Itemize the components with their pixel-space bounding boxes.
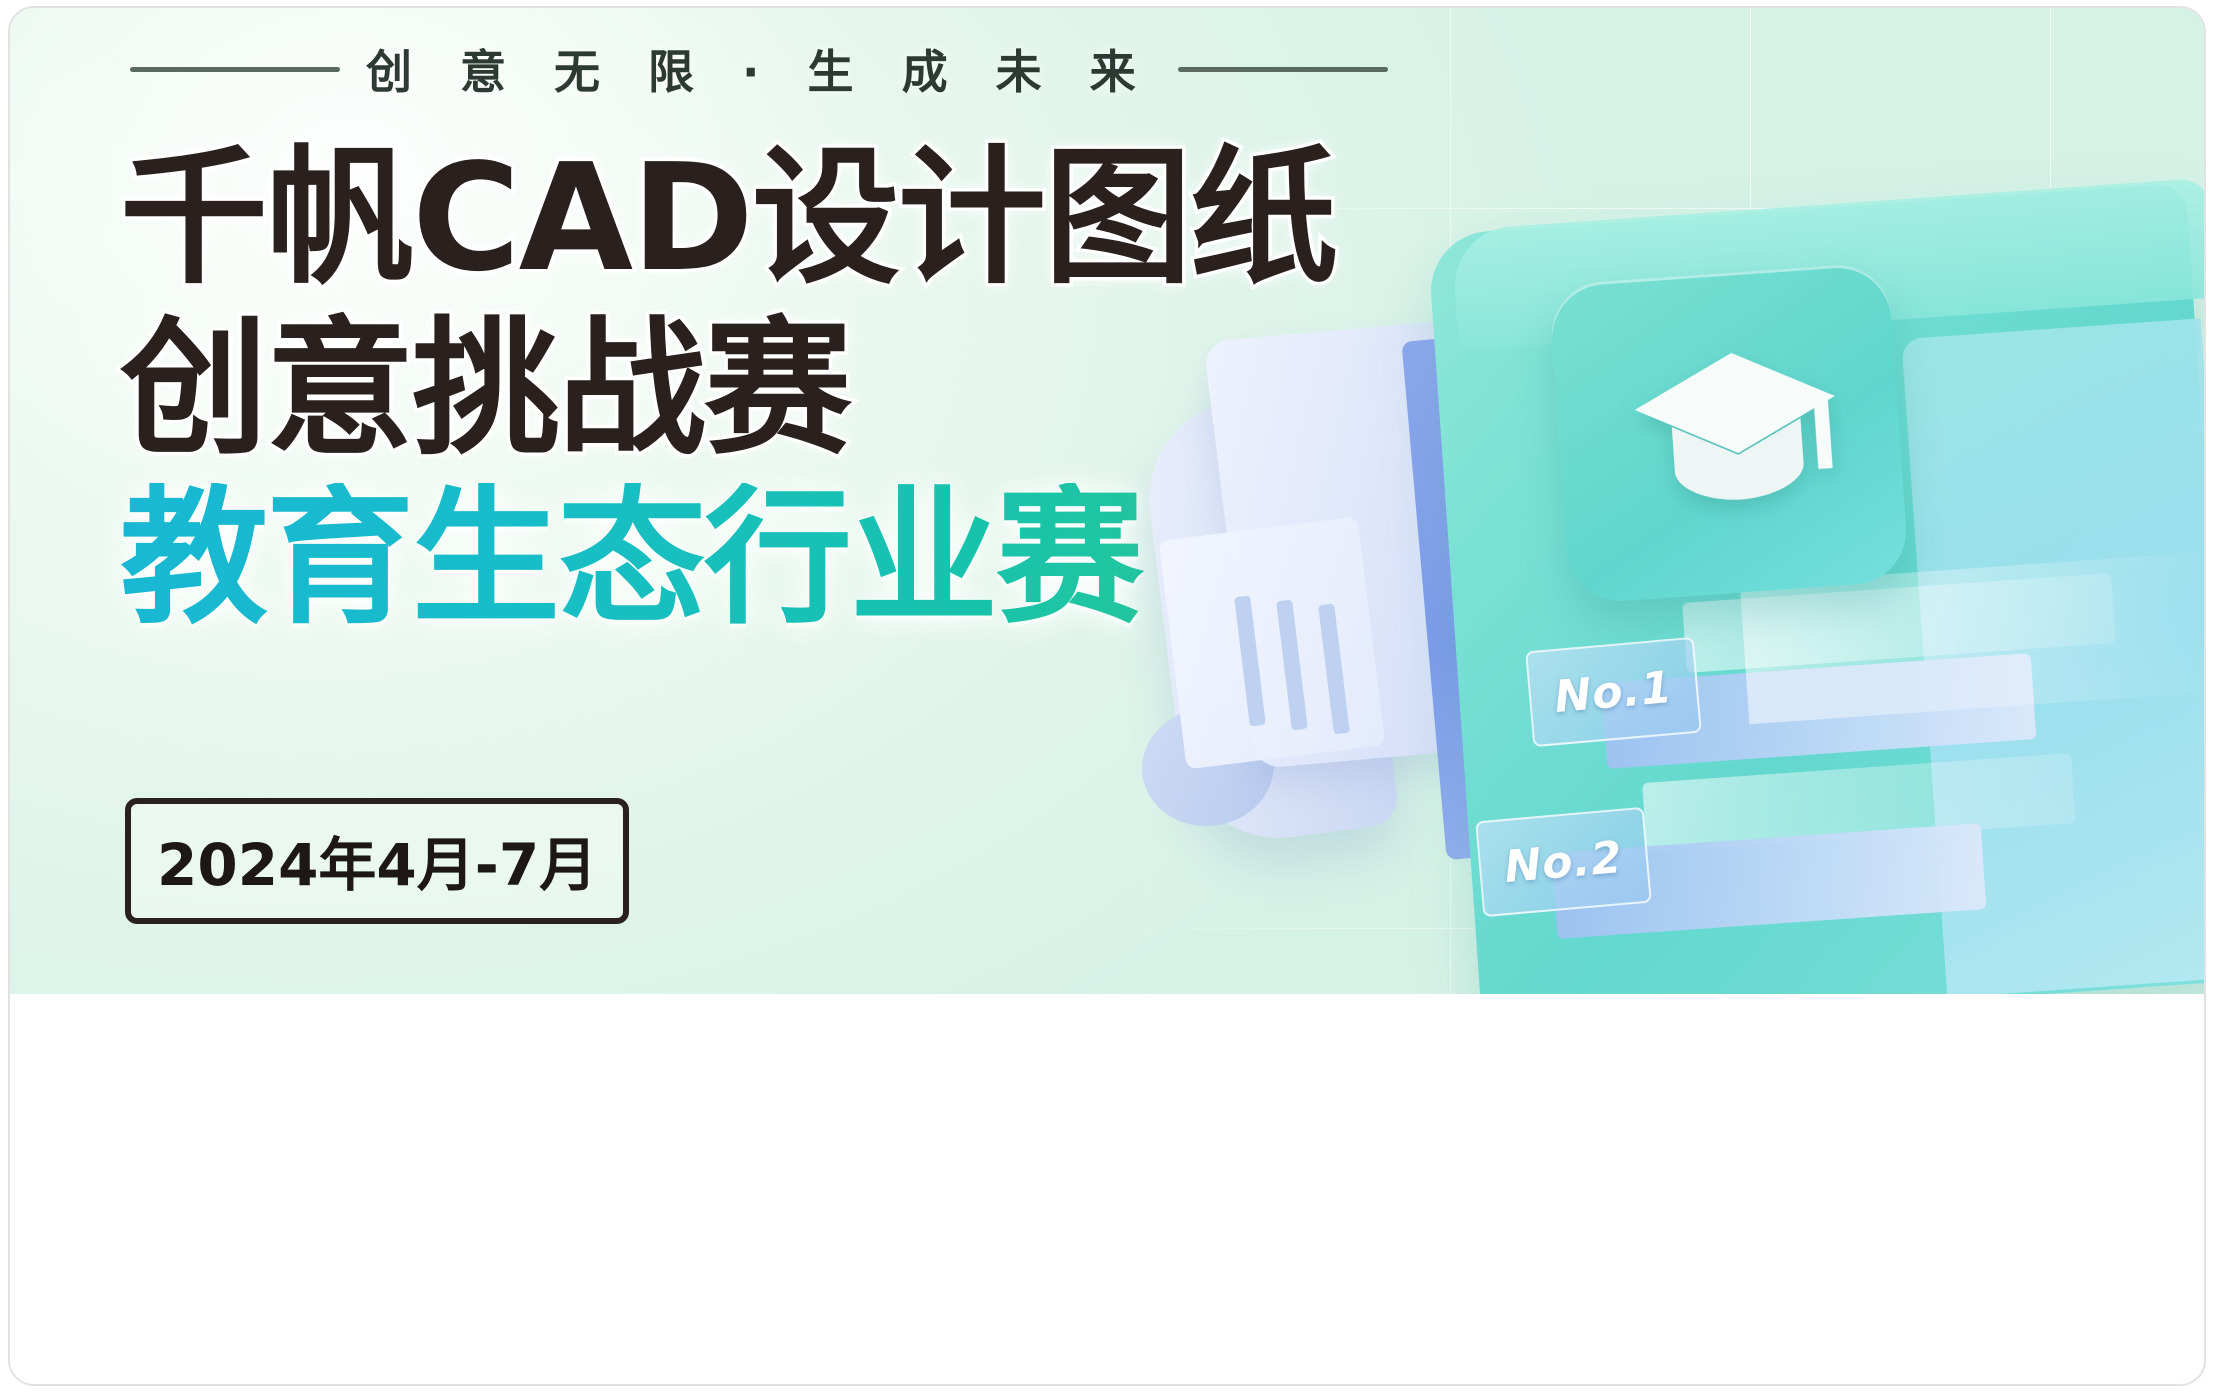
content-area-below-banner	[10, 994, 2204, 1386]
headline-line-3: 教育生态行业赛	[120, 483, 1680, 634]
tagline: 创 意 无 限 · 生 成 未 来	[130, 36, 1640, 102]
date-badge: 2024年4月-7月	[125, 798, 629, 924]
date-badge-text: 2024年4月-7月	[157, 831, 597, 899]
tagline-text: 创 意 无 限 · 生 成 未 来	[366, 36, 1152, 102]
headline-group: 千帆CAD设计图纸 创意挑战赛 教育生态行业赛	[120, 143, 1680, 634]
headline-line-2: 创意挑战赛	[120, 314, 1680, 465]
banner-card: 创 意 无 限 · 生 成 未 来 千帆CAD设计图纸 创意挑战赛 教育生态行业…	[8, 6, 2206, 1386]
page-root: 创 意 无 限 · 生 成 未 来 千帆CAD设计图纸 创意挑战赛 教育生态行业…	[0, 0, 2214, 1392]
promo-banner[interactable]: 创 意 无 限 · 生 成 未 来 千帆CAD设计图纸 创意挑战赛 教育生态行业…	[10, 8, 2204, 994]
tagline-rule-left	[130, 67, 340, 72]
headline-line-1: 千帆CAD设计图纸	[120, 143, 1680, 294]
tagline-rule-right	[1178, 67, 1388, 72]
